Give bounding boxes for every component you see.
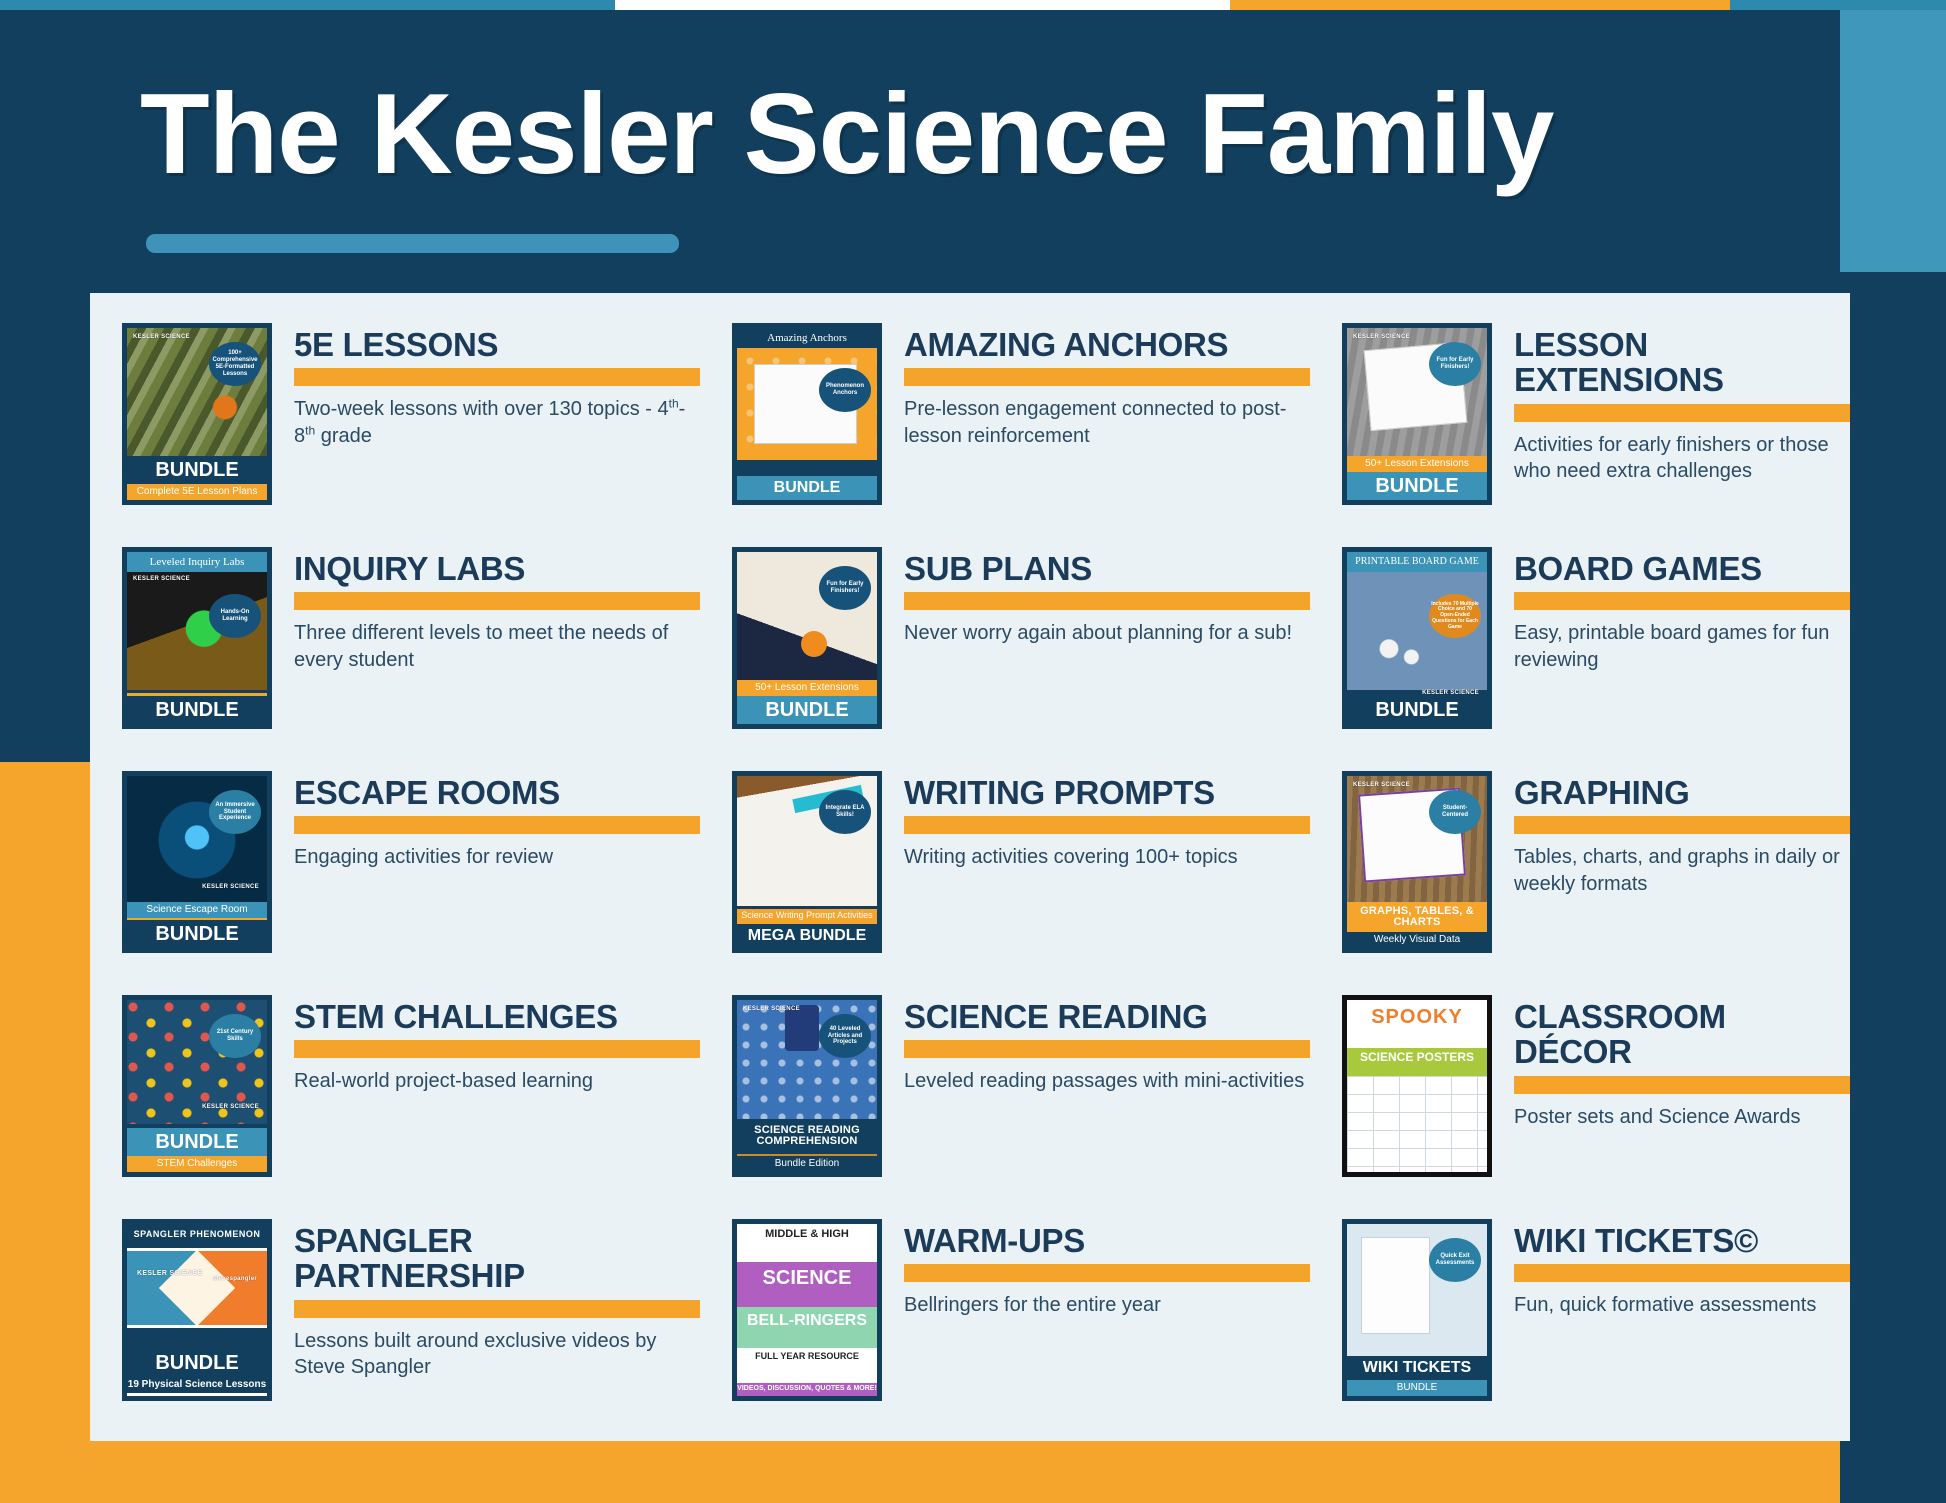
product-description: Bellringers for the entire year: [904, 1292, 1310, 1319]
right-teal-block: [1840, 0, 1946, 272]
product-text: GRAPHING Tables, charts, and graphs in d…: [1492, 759, 1850, 897]
product-thumbnail[interactable]: MIDDLE & HIGH SCIENCE BELL-RINGERS FULL …: [732, 1219, 882, 1401]
rule-segment-teal-left: [0, 0, 615, 10]
product-heading: SCIENCE READING: [904, 999, 1310, 1034]
thumbnail-badge: Student-Centered: [1429, 790, 1481, 834]
product-grid: KESLER SCIENCE 100+ Comprehensive 5E-For…: [90, 293, 1850, 1441]
thumbnail-badge: Quick Exit Assessments: [1429, 1238, 1481, 1282]
product-thumbnail[interactable]: Leveled Inquiry Labs KESLER SCIENCE Hand…: [122, 547, 272, 729]
spooky-posters-image: SPOOKY SCIENCE POSTERS: [1347, 1000, 1487, 1172]
product-description: Never worry again about planning for a s…: [904, 620, 1310, 647]
product-description: Easy, printable board games for fun revi…: [1514, 620, 1850, 673]
poster-subtitle: SCIENCE POSTERS: [1347, 1048, 1487, 1076]
product-description: Leveled reading passages with mini-activ…: [904, 1068, 1310, 1095]
poster-title: SPOOKY: [1347, 1000, 1487, 1048]
thumbnail-badge: Integrate ELA Skills!: [819, 790, 871, 834]
thumbnail-caption-main: BUNDLE: [1347, 696, 1487, 724]
product-thumbnail[interactable]: KESLER SCIENCE 100+ Comprehensive 5E-For…: [122, 323, 272, 505]
product-heading: BOARD GAMES: [1514, 551, 1850, 586]
thumbnail-caption-sub: STEM Challenges: [127, 1156, 267, 1172]
product-text: AMAZING ANCHORS Pre-lesson engagement co…: [882, 311, 1310, 449]
product-item-spangler-partnership[interactable]: SPANGLER PHENOMENON KESLER SCIENCE steve…: [90, 1207, 700, 1431]
thumbnail-caption-sub: 50+ Lesson Extensions: [1347, 456, 1487, 472]
product-text: WARM-UPS Bellringers for the entire year: [882, 1207, 1310, 1319]
thumbnail-caption-sub: Bundle Edition: [737, 1154, 877, 1172]
heading-rule: [294, 816, 700, 834]
thumbnail-badge: Fun for Early Finishers!: [1429, 342, 1481, 386]
top-color-rule: [0, 0, 1946, 10]
thumbnail-caption: VIDEOS, DISCUSSION, QUOTES & MORE!: [737, 1383, 877, 1396]
product-text: WRITING PROMPTS Writing activities cover…: [882, 759, 1310, 871]
thumbnail-caption: BUNDLE Complete 5E Lesson Plans: [127, 456, 267, 500]
product-text: INQUIRY LABS Three different levels to m…: [272, 535, 700, 673]
kesler-science-logo: KESLER SCIENCE: [202, 1104, 259, 1110]
thumbnail-caption-main: BUNDLE: [127, 693, 267, 724]
heading-rule: [904, 1040, 1310, 1058]
thumbnail-caption: BUNDLE: [1347, 696, 1487, 724]
heading-rule: [1514, 816, 1850, 834]
product-description: Poster sets and Science Awards: [1514, 1104, 1850, 1131]
bellringer-line-1: MIDDLE & HIGH: [737, 1224, 877, 1262]
heading-rule: [1514, 1076, 1850, 1094]
thumbnail-caption: BUNDLE 19 Physical Science Lessons: [127, 1349, 267, 1396]
product-text: LESSON EXTENSIONS Activities for early f…: [1492, 311, 1850, 485]
thumbnail-badge: Phenomenon Anchors: [819, 368, 871, 412]
product-thumbnail[interactable]: 21st Century Skills KESLER SCIENCE BUNDL…: [122, 995, 272, 1177]
product-thumbnail[interactable]: SPOOKY SCIENCE POSTERS: [1342, 995, 1492, 1177]
thumbnail-badge: Fun for Early Finishers!: [819, 566, 871, 610]
product-item-lesson-extensions[interactable]: KESLER SCIENCE Fun for Early Finishers! …: [1310, 311, 1850, 535]
heading-rule: [1514, 1264, 1850, 1282]
product-description: Writing activities covering 100+ topics: [904, 844, 1310, 871]
thumbnail-caption: 50+ Lesson Extensions BUNDLE: [737, 680, 877, 724]
thumbnail-badge: Includes 70 Multiple Choice and 70 Open-…: [1429, 594, 1481, 638]
product-thumbnail[interactable]: KESLER SCIENCE Fun for Early Finishers! …: [1342, 323, 1492, 505]
product-thumbnail[interactable]: An Immersive Student Experience KESLER S…: [122, 771, 272, 953]
thumbnail-caption: BUNDLE STEM Challenges: [127, 1128, 267, 1172]
thumbnail-caption-main: BUNDLE: [1347, 472, 1487, 500]
product-text: BOARD GAMES Easy, printable board games …: [1492, 535, 1850, 673]
product-description: Activities for early finishers or those …: [1514, 432, 1850, 485]
product-item-science-reading[interactable]: KESLER SCIENCE 40 Leveled Articles and P…: [700, 983, 1310, 1207]
heading-rule: [904, 592, 1310, 610]
product-heading: STEM CHALLENGES: [294, 999, 700, 1034]
product-description: Real-world project-based learning: [294, 1068, 700, 1095]
thumbnail-caption: 50+ Lesson Extensions BUNDLE: [1347, 456, 1487, 500]
thumbnail-badge: Hands-On Learning: [209, 594, 261, 638]
product-description: Engaging activities for review: [294, 844, 700, 871]
thumbnail-badge: 100+ Comprehensive 5E-Formatted Lessons: [209, 342, 261, 386]
product-thumbnail[interactable]: Amazing Anchors Phenomenon Anchors BUNDL…: [732, 323, 882, 505]
product-description: Fun, quick formative assessments: [1514, 1292, 1850, 1319]
thumbnail-caption-main: BUNDLE: [127, 920, 267, 948]
product-item-classroom-decor[interactable]: SPOOKY SCIENCE POSTERS CLASSROOM DÉCOR P…: [1310, 983, 1850, 1207]
heading-rule: [904, 816, 1310, 834]
heading-rule: [294, 1040, 700, 1058]
thumbnail-topbar: Leveled Inquiry Labs: [127, 552, 267, 572]
product-text: WIKI TICKETS© Fun, quick formative asses…: [1492, 1207, 1850, 1319]
product-heading: AMAZING ANCHORS: [904, 327, 1310, 362]
thumbnail-topbar: Amazing Anchors: [737, 328, 877, 348]
product-description: Three different levels to meet the needs…: [294, 620, 700, 673]
thumbnail-badge: 40 Leveled Articles and Projects: [819, 1014, 871, 1058]
product-item-amazing-anchors[interactable]: Amazing Anchors Phenomenon Anchors BUNDL…: [700, 311, 1310, 535]
heading-rule: [1514, 592, 1850, 610]
kesler-science-logo: KESLER SCIENCE: [743, 1006, 800, 1012]
thumbnail-caption: SCIENCE READING COMPREHENSION Bundle Edi…: [737, 1119, 877, 1172]
thumbnail-caption-main: BUNDLE: [737, 696, 877, 724]
thumbnail-caption-sub: Science Escape Room: [127, 902, 267, 920]
product-item-graphing[interactable]: KESLER SCIENCE Student-Centered GRAPHS, …: [1310, 759, 1850, 983]
heading-rule: [904, 1264, 1310, 1282]
kesler-science-logo: KESLER SCIENCE: [202, 884, 259, 890]
kesler-science-logo: KESLER SCIENCE: [133, 334, 190, 340]
product-heading: INQUIRY LABS: [294, 551, 700, 586]
steve-spangler-logo: stevespangler: [213, 1276, 257, 1282]
product-heading: SPANGLER PARTNERSHIP: [294, 1223, 700, 1294]
product-heading: ESCAPE ROOMS: [294, 775, 700, 810]
bellringer-line-2: SCIENCE: [737, 1262, 877, 1307]
heading-rule: [904, 368, 1310, 386]
thumbnail-badge: 21st Century Skills: [209, 1014, 261, 1058]
product-thumbnail[interactable]: Quick Exit Assessments WIKI TICKETS BUND…: [1342, 1219, 1492, 1401]
bellringer-line-3: BELL-RINGERS: [737, 1307, 877, 1348]
product-thumbnail[interactable]: Integrate ELA Skills! Science Writing Pr…: [732, 771, 882, 953]
product-item-inquiry-labs[interactable]: Leveled Inquiry Labs KESLER SCIENCE Hand…: [90, 535, 700, 759]
thumbnail-caption-main: BUNDLE: [127, 1128, 267, 1156]
thumbnail-caption-main: MEGA BUNDLE: [737, 924, 877, 948]
product-item-sub-plans[interactable]: Fun for Early Finishers! 50+ Lesson Exte…: [700, 535, 1310, 759]
product-description: Pre-lesson engagement connected to post-…: [904, 396, 1310, 449]
page-title: The Kesler Science Family: [140, 75, 1553, 195]
product-thumbnail[interactable]: SPANGLER PHENOMENON KESLER SCIENCE steve…: [122, 1219, 272, 1401]
product-text: SCIENCE READING Leveled reading passages…: [882, 983, 1310, 1095]
product-thumbnail[interactable]: KESLER SCIENCE Student-Centered GRAPHS, …: [1342, 771, 1492, 953]
thumbnail-caption: BUNDLE: [737, 476, 877, 500]
thumbnail-caption-main: BUNDLE: [127, 456, 267, 484]
thumbnail-caption: Science Writing Prompt Activities MEGA B…: [737, 909, 877, 948]
thumbnail-caption: Science Escape Room BUNDLE: [127, 902, 267, 948]
thumbnail-caption-sub: Complete 5E Lesson Plans: [127, 484, 267, 500]
product-heading: CLASSROOM DÉCOR: [1514, 999, 1850, 1070]
thumbnail-caption-sub: BUNDLE: [1347, 1380, 1487, 1396]
product-description: Tables, charts, and graphs in daily or w…: [1514, 844, 1850, 897]
kesler-science-logo: KESLER SCIENCE: [1422, 690, 1479, 696]
thumbnail-caption-sub: VIDEOS, DISCUSSION, QUOTES & MORE!: [737, 1383, 877, 1396]
product-item-board-games[interactable]: PRINTABLE BOARD GAME Includes 70 Multipl…: [1310, 535, 1850, 759]
product-text: SUB PLANS Never worry again about planni…: [882, 535, 1310, 647]
product-description: Two-week lessons with over 130 topics - …: [294, 396, 700, 449]
kesler-science-logo: KESLER SCIENCE: [137, 1270, 203, 1277]
thumbnail-caption-sub: Science Writing Prompt Activities: [737, 909, 877, 924]
thumbnail-topbar: SPANGLER PHENOMENON: [127, 1224, 267, 1244]
thumbnail-caption-main: BUNDLE: [737, 476, 877, 500]
heading-rule: [294, 1300, 700, 1318]
product-heading: WRITING PROMPTS: [904, 775, 1310, 810]
spangler-partnership-logos: [127, 1251, 267, 1325]
heading-rule: [1514, 404, 1850, 422]
thumbnail-caption-main: BUNDLE: [127, 1349, 267, 1377]
thumbnail-caption-main: SCIENCE READING COMPREHENSION: [737, 1119, 877, 1154]
thumbnail-badge: An Immersive Student Experience: [209, 790, 261, 834]
thumbnail-caption-sub: Weekly Visual Data: [1347, 932, 1487, 948]
heading-rule: [294, 368, 700, 386]
poster-canvas: The Kesler Science Family KESLER SCIENCE…: [0, 0, 1946, 1503]
product-heading: SUB PLANS: [904, 551, 1310, 586]
poster-thumbnail-grid: [1347, 1076, 1487, 1172]
product-thumbnail[interactable]: Fun for Early Finishers! 50+ Lesson Exte…: [732, 547, 882, 729]
product-text: CLASSROOM DÉCOR Poster sets and Science …: [1492, 983, 1850, 1130]
thumbnail-caption-main: WIKI TICKETS: [1347, 1356, 1487, 1380]
product-item-escape-rooms[interactable]: An Immersive Student Experience KESLER S…: [90, 759, 700, 983]
thumbnail-art: [127, 1248, 267, 1328]
product-text: 5E LESSONS Two-week lessons with over 13…: [272, 311, 700, 449]
heading-rule: [294, 592, 700, 610]
bellringers-cover-image: MIDDLE & HIGH SCIENCE BELL-RINGERS FULL …: [737, 1224, 877, 1396]
right-navy-strip: [1840, 272, 1946, 1503]
product-text: ESCAPE ROOMS Engaging activities for rev…: [272, 759, 700, 871]
kesler-science-logo: KESLER SCIENCE: [1353, 782, 1410, 788]
thumbnail-caption: WIKI TICKETS BUNDLE: [1347, 1356, 1487, 1396]
rule-segment-white: [615, 0, 1230, 10]
thumbnail-caption: BUNDLE: [127, 693, 267, 724]
product-item-writing-prompts[interactable]: Integrate ELA Skills! Science Writing Pr…: [700, 759, 1310, 983]
product-heading: WIKI TICKETS©: [1514, 1223, 1850, 1258]
kesler-science-logo: KESLER SCIENCE: [133, 576, 190, 582]
rule-segment-teal-right: [1730, 0, 1946, 10]
product-heading: LESSON EXTENSIONS: [1514, 327, 1850, 398]
thumbnail-caption: GRAPHS, TABLES, & CHARTS Weekly Visual D…: [1347, 902, 1487, 948]
product-item-wiki-tickets[interactable]: Quick Exit Assessments WIKI TICKETS BUND…: [1310, 1207, 1850, 1431]
thumbnail-topbar: PRINTABLE BOARD GAME: [1347, 552, 1487, 572]
kesler-science-logo: KESLER SCIENCE: [1353, 334, 1410, 340]
product-item-warm-ups[interactable]: MIDDLE & HIGH SCIENCE BELL-RINGERS FULL …: [700, 1207, 1310, 1431]
thumbnail-caption-sub: 19 Physical Science Lessons: [127, 1377, 267, 1396]
title-underline: [146, 234, 679, 253]
product-heading: GRAPHING: [1514, 775, 1850, 810]
content-card: KESLER SCIENCE 100+ Comprehensive 5E-For…: [90, 293, 1850, 1441]
rule-segment-orange: [1230, 0, 1730, 10]
product-item-5e-lessons[interactable]: KESLER SCIENCE 100+ Comprehensive 5E-For…: [90, 311, 700, 535]
product-thumbnail[interactable]: KESLER SCIENCE 40 Leveled Articles and P…: [732, 995, 882, 1177]
product-thumbnail[interactable]: PRINTABLE BOARD GAME Includes 70 Multipl…: [1342, 547, 1492, 729]
product-text: STEM CHALLENGES Real-world project-based…: [272, 983, 700, 1095]
thumbnail-caption-sub: 50+ Lesson Extensions: [737, 680, 877, 696]
product-description: Lessons built around exclusive videos by…: [294, 1328, 700, 1381]
thumbnail-caption-main: GRAPHS, TABLES, & CHARTS: [1347, 902, 1487, 932]
product-heading: WARM-UPS: [904, 1223, 1310, 1258]
product-heading: 5E LESSONS: [294, 327, 700, 362]
product-text: SPANGLER PARTNERSHIP Lessons built aroun…: [272, 1207, 700, 1381]
product-item-stem-challenges[interactable]: 21st Century Skills KESLER SCIENCE BUNDL…: [90, 983, 700, 1207]
